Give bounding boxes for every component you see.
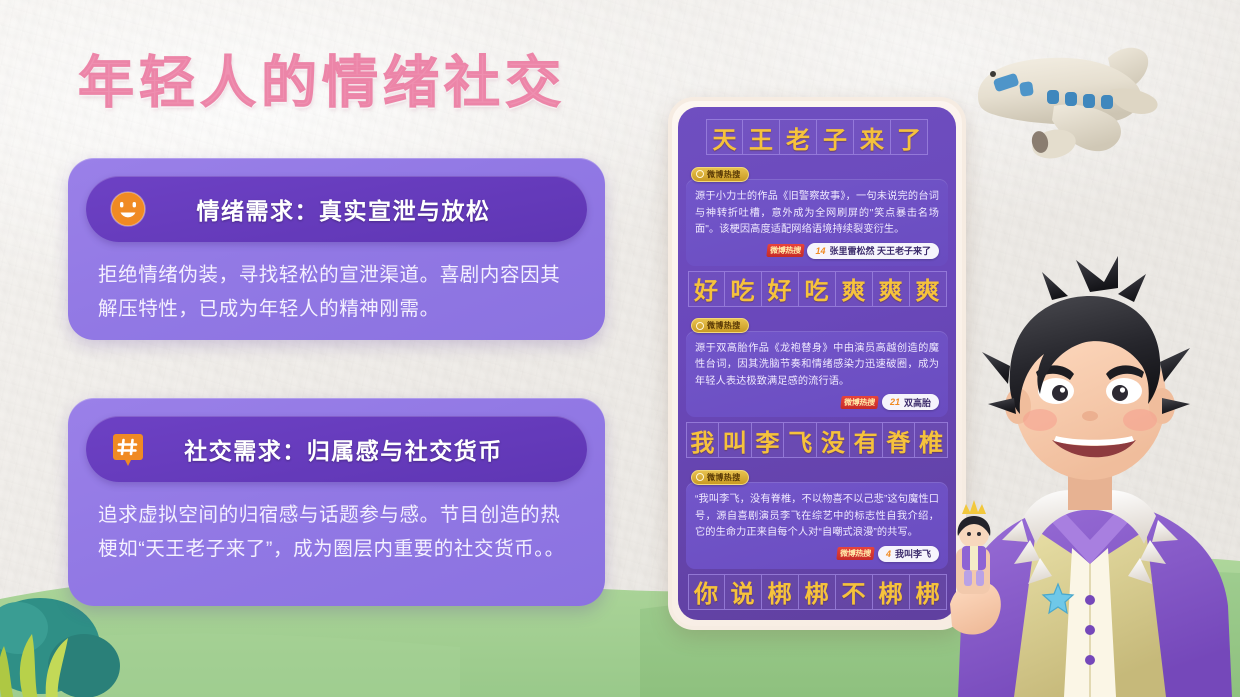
meme-title-char: 脊	[883, 422, 916, 458]
meme-description-text: 源于双高胎作品《龙袍替身》中由演员高越创造的魔性台词，因其洗脑节奏和情绪感染力迅…	[695, 341, 939, 391]
meme-title-char: 好	[762, 271, 799, 307]
slide-canvas: 年轻人的情绪社交 情绪需求：真实宣泄与放松 拒绝情绪伪装，寻找轻松的宣泄渠道。喜…	[0, 0, 1240, 697]
meme-source-badge: 微博热搜	[691, 470, 749, 485]
meme-entry[interactable]: 你说梆梆不梆梆微博热搜源于外星从作品《冷不丁梆梆就两拳》中爆火的荒诞喜剧梗，以无…	[686, 574, 948, 621]
meme-source-badge: 微博热搜	[691, 318, 749, 333]
meme-hotsearch-rank: 4	[886, 549, 891, 559]
meme-title-char: 说	[725, 574, 762, 610]
meme-title-char: 没	[817, 422, 850, 458]
weibo-hotsearch-logo: 微博热搜	[836, 547, 874, 560]
weibo-circle-icon	[696, 322, 704, 330]
meme-description-text: “我叫李飞，没有脊椎，不以物喜不以己悲”这句魔性口号，源自喜剧演员李飞在综艺中的…	[695, 492, 939, 542]
meme-description-card: “我叫李飞，没有脊椎，不以物喜不以己悲”这句魔性口号，源自喜剧演员李飞在综艺中的…	[686, 482, 948, 569]
meme-title-char: 王	[743, 119, 780, 155]
meme-title-char: 梆	[799, 574, 836, 610]
meme-title-char: 爽	[836, 271, 873, 307]
phone-screen[interactable]: 天王老子来了微博热搜源于小力士的作品《旧警察故事》，一句未说完的台词与神转折吐槽…	[678, 107, 956, 620]
meme-title-char: 不	[836, 574, 873, 610]
meme-title-char: 吃	[725, 271, 762, 307]
meme-title-char: 爽	[873, 271, 910, 307]
meme-title-char: 子	[817, 119, 854, 155]
meme-title-grid: 好吃好吃爽爽爽	[686, 271, 948, 307]
page-title: 年轻人的情绪社交	[78, 38, 566, 119]
meme-hotsearch-rank: 14	[815, 246, 825, 256]
meme-title-grid: 天王老子来了	[686, 119, 948, 155]
meme-title-char: 李	[752, 422, 785, 458]
smiley-face-icon	[108, 189, 148, 229]
meme-description-card: 源于小力士的作品《旧警察故事》，一句未说完的台词与神转折吐槽，意外成为全网刷屏的…	[686, 179, 948, 266]
weibo-circle-icon	[696, 473, 704, 481]
meme-title-char: 了	[891, 119, 928, 155]
meme-source-badge-label: 微博热搜	[707, 169, 741, 180]
meme-title-char: 飞	[784, 422, 817, 458]
meme-title-char: 来	[854, 119, 891, 155]
toy-airplane-decoration	[958, 22, 1188, 172]
meme-list: 天王老子来了微博热搜源于小力士的作品《旧警察故事》，一句未说完的台词与神转折吐槽…	[686, 119, 948, 620]
meme-title-char: 叫	[719, 422, 752, 458]
meme-title-char: 吃	[799, 271, 836, 307]
info-card-social: 社交需求：归属感与社交货币 追求虚拟空间的归宿感与话题参与感。节目创造的热梗如“…	[68, 398, 605, 606]
meme-title-char: 我	[686, 422, 719, 458]
meme-description-text: 源于小力士的作品《旧警察故事》，一句未说完的台词与神转折吐槽，意外成为全网刷屏的…	[695, 189, 939, 239]
meme-source-badge-label: 微博热搜	[707, 320, 741, 331]
hashtag-speech-bubble-icon	[108, 429, 148, 469]
meme-footer: 微博热搜21双高胎	[695, 394, 939, 410]
meme-title-char: 好	[688, 271, 725, 307]
meme-title-char: 梆	[762, 574, 799, 610]
meme-entry[interactable]: 天王老子来了微博热搜源于小力士的作品《旧警察故事》，一句未说完的台词与神转折吐槽…	[686, 119, 948, 266]
meme-footer: 微博热搜14张里雷松然 天王老子来了	[695, 243, 939, 259]
meme-entry[interactable]: 好吃好吃爽爽爽微博热搜源于双高胎作品《龙袍替身》中由演员高越创造的魔性台词，因其…	[686, 271, 948, 418]
meme-footer: 微博热搜4我叫李飞	[695, 546, 939, 562]
meme-title-char: 梆	[873, 574, 910, 610]
card-body-emotion: 拒绝情绪伪装，寻找轻松的宣泄渠道。喜剧内容因其解压特性，已成为年轻人的精神刚需。	[86, 242, 587, 326]
meme-title-char: 老	[780, 119, 817, 155]
meme-hotsearch-label: 我叫李飞	[895, 547, 931, 560]
meme-entry[interactable]: 我叫李飞没有脊椎微博热搜“我叫李飞，没有脊椎，不以物喜不以己悲”这句魔性口号，源…	[686, 422, 948, 569]
meme-title-char: 有	[850, 422, 883, 458]
meme-title-grid: 你说梆梆不梆梆	[686, 574, 948, 610]
meme-title-char: 你	[688, 574, 725, 610]
meme-hotsearch-tag[interactable]: 21双高胎	[882, 394, 939, 410]
meme-hotsearch-tag[interactable]: 14张里雷松然 天王老子来了	[807, 243, 939, 259]
meme-source-badge: 微博热搜	[691, 167, 749, 182]
meme-hotsearch-label: 张里雷松然 天王老子来了	[829, 244, 931, 257]
meme-hotsearch-rank: 21	[890, 397, 900, 407]
meme-hotsearch-label: 双高胎	[904, 396, 931, 409]
weibo-hotsearch-logo: 微博热搜	[840, 396, 878, 409]
card-title-social: 社交需求：归属感与社交货币	[148, 432, 565, 466]
meme-title-grid: 我叫李飞没有脊椎	[686, 422, 948, 458]
phone-mockup: 天王老子来了微博热搜源于小力士的作品《旧警察故事》，一句未说完的台词与神转折吐槽…	[668, 97, 966, 630]
meme-hotsearch-tag[interactable]: 4我叫李飞	[878, 546, 939, 562]
weibo-circle-icon	[696, 170, 704, 178]
info-card-emotion: 情绪需求：真实宣泄与放松 拒绝情绪伪装，寻找轻松的宣泄渠道。喜剧内容因其解压特性…	[68, 158, 605, 340]
card-header-social: 社交需求：归属感与社交货币	[86, 416, 587, 482]
meme-source-badge-label: 微博热搜	[707, 472, 741, 483]
meme-title-char: 天	[706, 119, 743, 155]
weibo-hotsearch-logo: 微博热搜	[766, 244, 804, 257]
card-title-emotion: 情绪需求：真实宣泄与放松	[148, 192, 565, 226]
card-header-emotion: 情绪需求：真实宣泄与放松	[86, 176, 587, 242]
meme-description-card: 源于双高胎作品《龙袍替身》中由演员高越创造的魔性台词，因其洗脑节奏和情绪感染力迅…	[686, 331, 948, 418]
card-body-social: 追求虚拟空间的归宿感与话题参与感。节目创造的热梗如“天王老子来了”，成为圈层内重…	[86, 482, 587, 566]
clay-prince-mascot	[940, 248, 1240, 697]
